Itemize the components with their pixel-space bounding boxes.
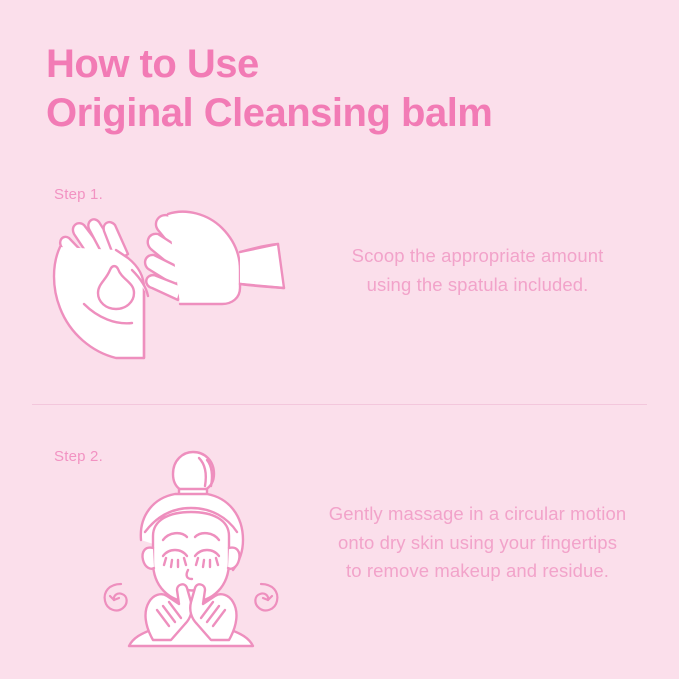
title-line-1: How to Use	[46, 40, 646, 89]
step-2-text-line-2: onto dry skin using your fingertips	[300, 529, 655, 558]
step-section-1: Step 1.	[0, 170, 679, 385]
woman-massaging-face-icon	[95, 444, 290, 654]
step-description-1: Scoop the appropriate amount using the s…	[300, 242, 655, 299]
step-section-2: Step 2.	[0, 432, 679, 647]
step-2-text-line-3: to remove makeup and residue.	[300, 557, 655, 586]
section-divider	[32, 404, 647, 405]
title-line-2: Original Cleansing balm	[46, 89, 646, 138]
step-1-text-line-2: using the spatula included.	[300, 271, 655, 300]
how-to-use-card: How to Use Original Cleansing balm Step …	[0, 0, 679, 679]
step-1-text-line-1: Scoop the appropriate amount	[300, 242, 655, 271]
step-2-text-line-1: Gently massage in a circular motion	[300, 500, 655, 529]
page-title: How to Use Original Cleansing balm	[46, 40, 646, 138]
hands-scooping-balm-with-spatula-icon	[40, 192, 295, 372]
step-description-2: Gently massage in a circular motion onto…	[300, 500, 655, 586]
